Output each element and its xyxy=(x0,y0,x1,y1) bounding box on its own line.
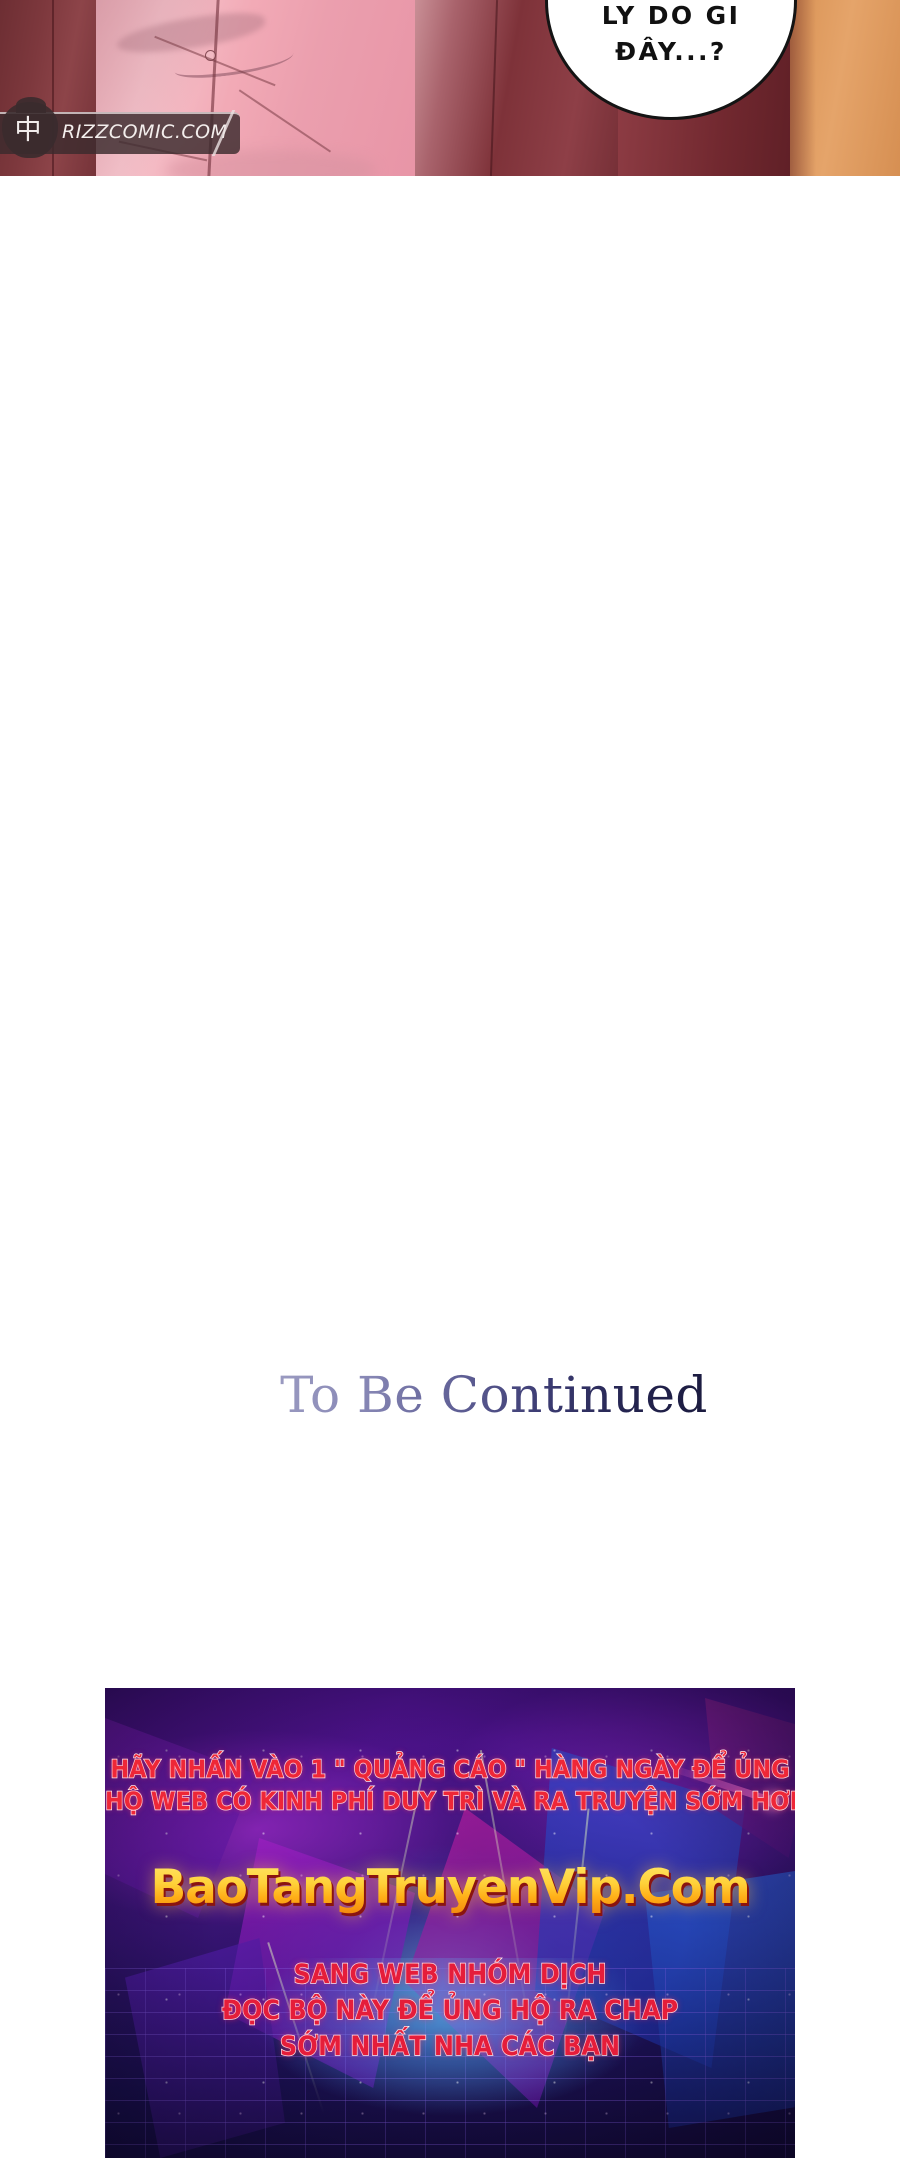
site-watermark: 中 RIZZCOMIC.COM xyxy=(0,102,246,158)
banner-bottom-line-1: SANG WEB NHÓM DỊCH xyxy=(105,1954,795,1994)
webtoon-page: LY DO GI ĐÂY...? 中 RIZZCOMIC.COM To Be C… xyxy=(0,0,900,2158)
banner-text-layer: HÃY NHẤN VÀO 1 " QUẢNG CÁO " HÀNG NGÀY Đ… xyxy=(105,1688,795,2158)
banner-bottom-line-3: SỚM NHẤT NHA CÁC BẠN xyxy=(105,2026,795,2066)
banner-top-line-1: HÃY NHẤN VÀO 1 " QUẢNG CÁO " HÀNG NGÀY Đ… xyxy=(105,1753,795,1789)
chinese-character-icon: 中 xyxy=(0,102,56,158)
watermark-domain-text: RIZZCOMIC.COM xyxy=(62,121,227,143)
speech-bubble-line-2: ĐÂY...? xyxy=(615,34,727,70)
banner-top-line-2: HỘ WEB CÓ KINH PHÍ DUY TRÌ VÀ RA TRUYỆN … xyxy=(105,1785,795,1821)
banner-top-message: HÃY NHẤN VÀO 1 " QUẢNG CÁO " HÀNG NGÀY Đ… xyxy=(105,1755,795,1819)
to-be-continued-text: To Be Continued xyxy=(280,1366,708,1424)
white-content-area: To Be Continued 선화 기뭉 | 원작 그림자꾼 | 각색/콘티 … xyxy=(0,176,900,1688)
banner-brand-text[interactable]: BaoTangTruyenVip.Com xyxy=(150,1860,749,1915)
to-be-continued-block: To Be Continued xyxy=(0,1366,900,1424)
speech-bubble-line-1: LY DO GI xyxy=(602,0,741,34)
comic-panel: LY DO GI ĐÂY...? 中 RIZZCOMIC.COM xyxy=(0,0,900,176)
promotional-banner[interactable]: HÃY NHẤN VÀO 1 " QUẢNG CÁO " HÀNG NGÀY Đ… xyxy=(105,1688,795,2158)
banner-bottom-message: SANG WEB NHÓM DỊCH ĐỌC BỘ NÀY ĐỂ ỦNG HỘ … xyxy=(105,1956,795,2064)
banner-bottom-line-2: ĐỌC BỘ NÀY ĐỂ ỦNG HỘ RA CHAP xyxy=(105,1990,795,2030)
banner-brand-block[interactable]: BaoTangTruyenVip.Com xyxy=(105,1860,795,1915)
